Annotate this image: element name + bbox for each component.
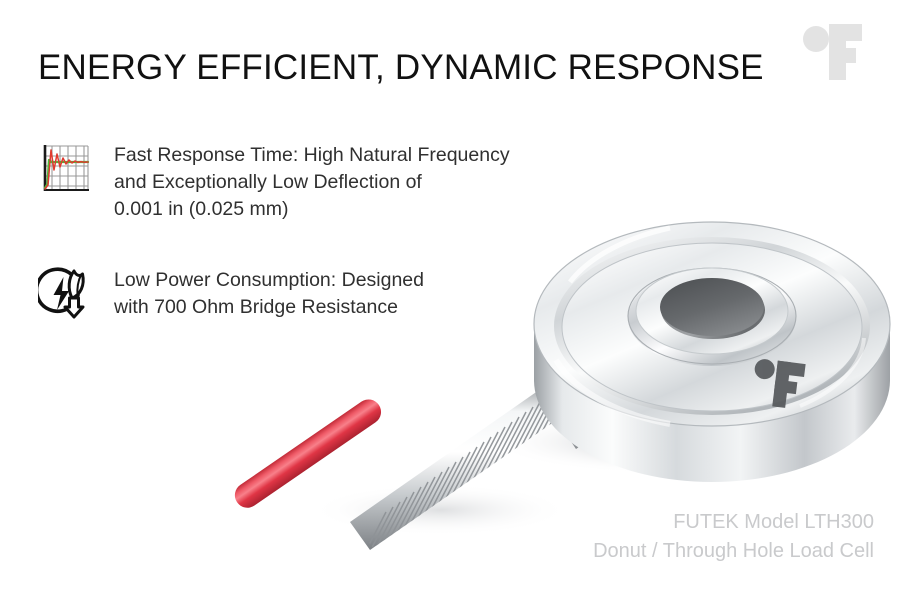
page-title: ENERGY EFFICIENT, DYNAMIC RESPONSE [38, 46, 764, 90]
product-load-cell-body [534, 222, 890, 482]
response-graph-icon [38, 140, 94, 196]
feature-line: and Exceptionally Low Deflection of [114, 169, 510, 196]
futek-logo-dot [803, 26, 829, 52]
eco-power-bolt-icon [38, 265, 94, 321]
product-caption: FUTEK Model LTH300 Donut / Through Hole … [593, 508, 874, 566]
feature-line: Fast Response Time: High Natural Frequen… [114, 142, 510, 169]
futek-logo-icon [800, 22, 862, 84]
caption-type: Donut / Through Hole Load Cell [593, 537, 874, 566]
futek-logo-stem [829, 24, 846, 80]
slide-canvas: ENERGY EFFICIENT, DYNAMIC RESPONSE [0, 0, 900, 600]
caption-model: FUTEK Model LTH300 [593, 508, 874, 537]
